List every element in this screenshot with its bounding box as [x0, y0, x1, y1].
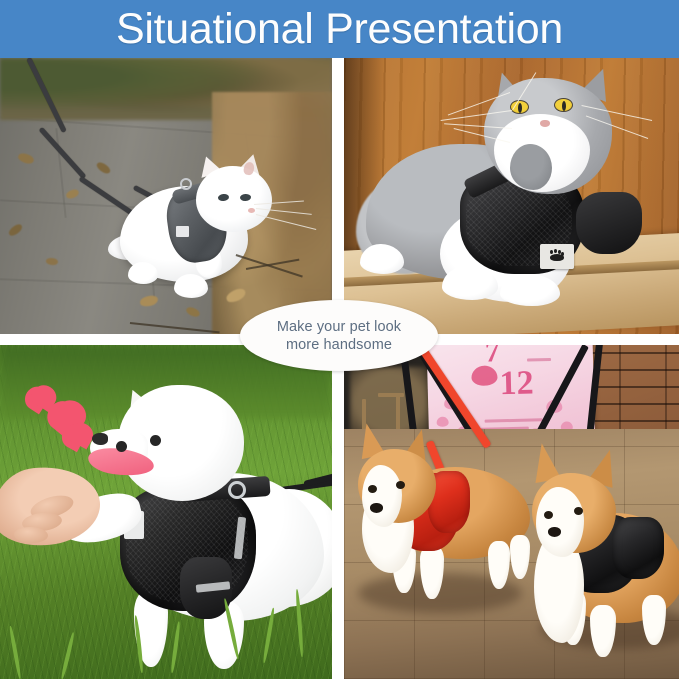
harness-side-panel	[576, 192, 642, 254]
cat-eye-right	[554, 98, 573, 112]
paw-pad	[550, 254, 564, 261]
cat-nose	[248, 208, 255, 213]
corgi-right-eye-left	[544, 511, 553, 519]
corgi-right-eye-right	[574, 507, 583, 515]
sign-text-line	[485, 418, 543, 423]
cat-chin-patch	[510, 144, 552, 190]
dog-nose	[92, 433, 108, 445]
cat-paw	[128, 262, 158, 284]
corgi-left-eye-left	[368, 485, 377, 493]
cat-paw	[174, 274, 208, 298]
header-banner: Situational Presentation	[0, 0, 679, 58]
photo-bottom-right: 7 12	[344, 345, 679, 679]
chair-leg	[378, 393, 404, 397]
heart-icon	[24, 373, 52, 400]
corgi-right-nose	[548, 527, 561, 537]
sign-text-line	[527, 358, 551, 362]
harness-side-panel-black	[612, 517, 664, 579]
cat-nose	[540, 120, 550, 127]
corgi-left-eye-right	[396, 481, 405, 489]
caption-text: Make your pet look more handsome	[277, 318, 401, 354]
paw-print-icon	[550, 250, 564, 261]
caption-bubble: Make your pet look more handsome	[240, 300, 438, 371]
sign-number-secondary: 12	[499, 364, 534, 403]
photo-top-left	[0, 58, 332, 334]
blossom-decoration	[436, 417, 448, 427]
dog-eye-right	[150, 435, 161, 446]
photo-top-right	[344, 58, 679, 334]
leash-clip-ring	[228, 481, 246, 499]
dog-eye-left	[116, 441, 127, 452]
corgi-right-face-blaze	[536, 487, 584, 557]
harness-brand-label	[176, 226, 189, 237]
product-infographic: Situational Presentation	[0, 0, 679, 679]
corgi-left-nose	[370, 503, 383, 513]
leash-clip-ring	[180, 178, 192, 190]
cat-head	[196, 166, 272, 232]
photo-bottom-left	[0, 345, 332, 679]
page-title: Situational Presentation	[116, 6, 563, 52]
corgi-left-face-blaze	[362, 465, 402, 527]
sign-number-primary: 7	[484, 345, 500, 370]
